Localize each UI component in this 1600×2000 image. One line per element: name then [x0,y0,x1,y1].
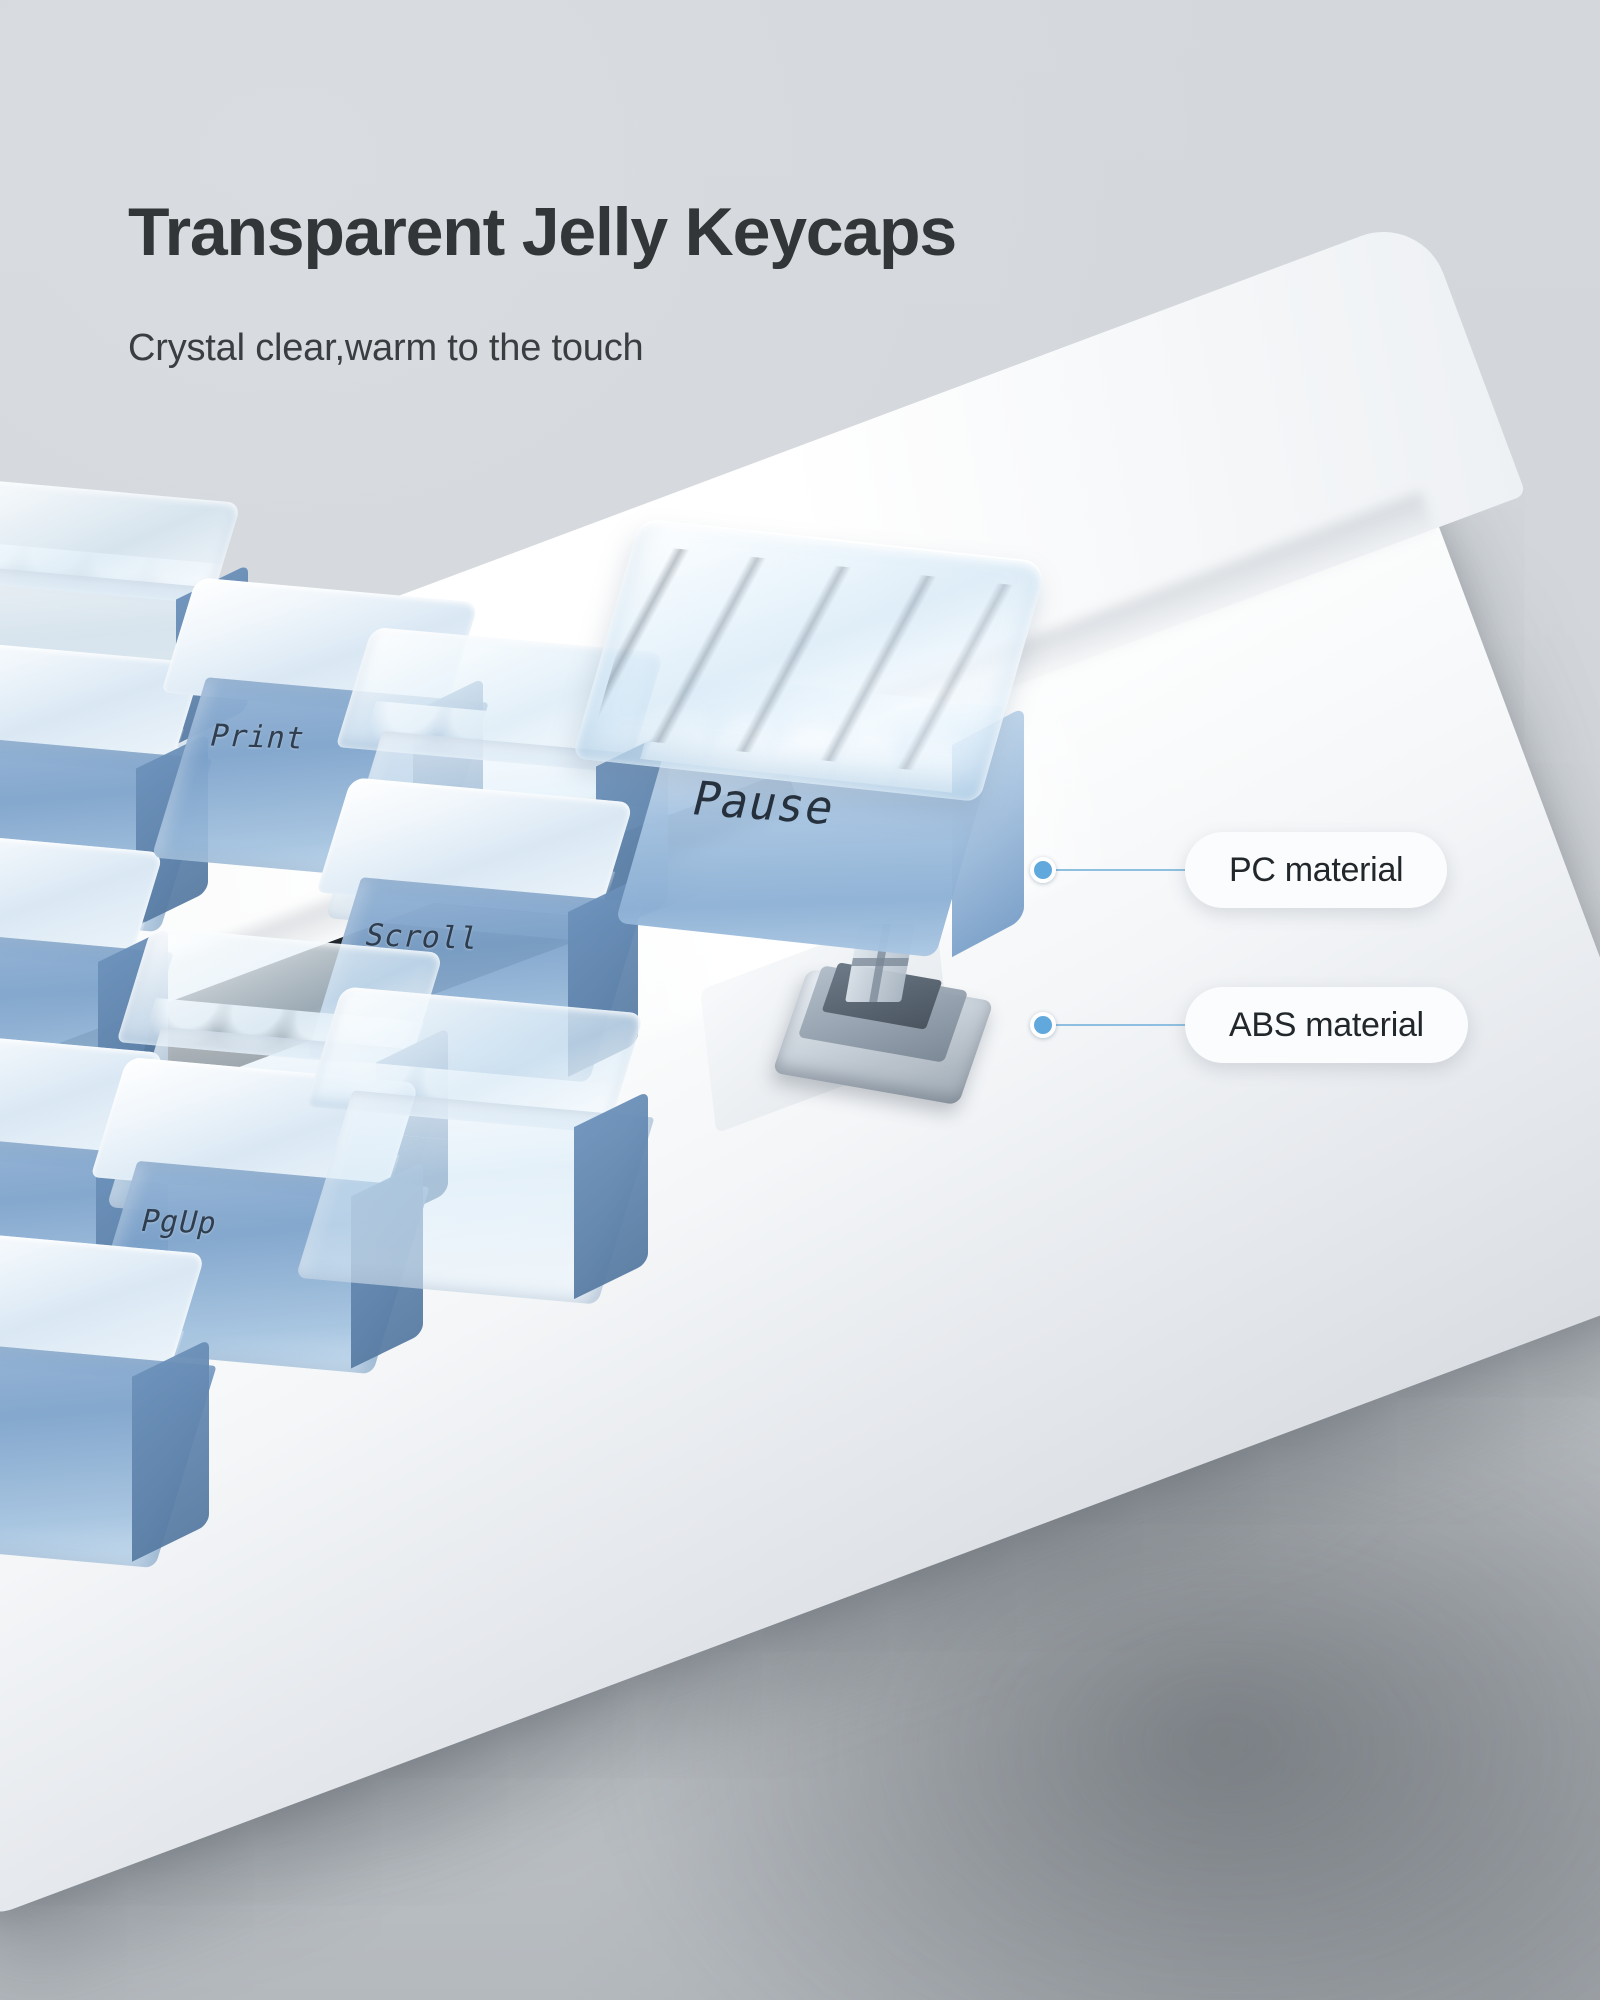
callout-leader-line-pc [1055,869,1195,871]
callout-label-pc: PC material [1185,832,1447,908]
callout-dot-abs [1030,1012,1056,1038]
callout-dot-pc [1030,857,1056,883]
callout-annotations: PC material ABS material [0,0,1600,2000]
callout-label-abs: ABS material [1185,987,1468,1063]
product-image-stage: Transparent Jelly Keycaps Crystal clear,… [0,0,1600,2000]
callout-leader-line-abs [1055,1024,1195,1026]
